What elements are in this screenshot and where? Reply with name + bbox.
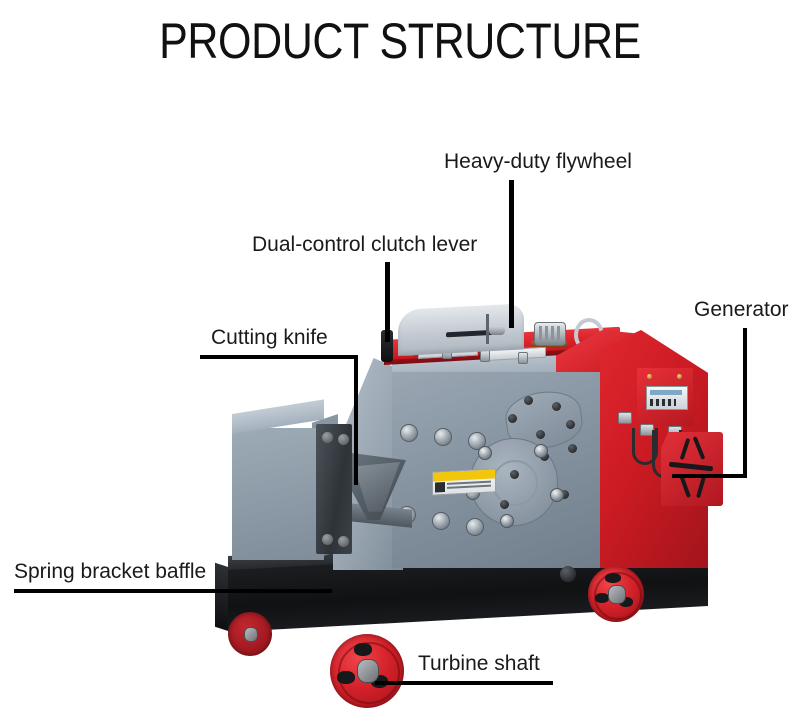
fan-cover-slot — [669, 462, 713, 472]
gearbox-bolt — [500, 500, 509, 509]
gearbox-bolt — [508, 414, 517, 423]
support-block-front — [232, 428, 324, 560]
leader-line-generator-horizontal — [672, 474, 747, 478]
callout-label-heavy-duty-flywheel: Heavy-duty flywheel — [444, 150, 632, 174]
leader-line-cutting-knife-horizontal — [200, 355, 358, 359]
wheel-spoke-hole — [354, 643, 372, 656]
rear-wheel — [588, 566, 644, 622]
gearbox-cap-bolt — [400, 424, 418, 442]
gearbox-bolt — [552, 402, 561, 411]
gearbox-cap-bolt — [466, 518, 484, 536]
leader-line-generator-vertical — [743, 328, 747, 478]
wheel-spoke-hole — [337, 671, 355, 684]
fan-cover-slot — [696, 476, 706, 498]
callout-label-spring-bracket-baffle: Spring bracket baffle — [14, 560, 206, 584]
wheel-spoke-hole — [595, 593, 609, 603]
knife-plate-bolt — [338, 536, 349, 547]
breaker-panel-label-strip — [650, 390, 682, 395]
flywheel-guard-knob — [489, 326, 505, 335]
wheel-hub — [357, 659, 380, 683]
cable-gland — [618, 412, 632, 424]
flywheel-guard — [398, 303, 524, 356]
generator-fan-cover — [661, 432, 723, 506]
leader-line-turbine-shaft — [375, 681, 553, 685]
control-box-screw — [647, 374, 652, 379]
leader-line-cutting-knife-vertical — [354, 355, 358, 485]
control-box-screw — [677, 374, 682, 379]
gearbox-bolt — [566, 420, 575, 429]
warning-sticker-text-lines — [447, 481, 491, 485]
leader-line-dual-control-clutch-lever — [385, 262, 390, 342]
flange-bolt — [534, 444, 548, 458]
knife-plate-bolt — [322, 534, 333, 545]
leader-line-heavy-duty-flywheel — [509, 180, 514, 328]
product-illustration — [0, 0, 800, 724]
breaker-switch-row[interactable] — [650, 399, 676, 406]
wheel-hub — [608, 585, 626, 604]
wheel-hub — [244, 627, 258, 642]
table-bolt — [518, 352, 528, 364]
gearbox-bolt — [524, 396, 533, 405]
flange-bolt — [500, 514, 514, 528]
wheel-spoke-hole — [605, 573, 621, 583]
knife-plate-bolt — [322, 432, 333, 443]
gearbox-flange-inner-ring — [492, 460, 538, 506]
gearbox-bolt — [510, 470, 519, 479]
leader-line-spring-bracket-baffle — [14, 589, 332, 593]
front-wheel — [330, 634, 404, 708]
flange-bolt — [478, 446, 492, 460]
callout-label-dual-control-clutch-lever: Dual-control clutch lever — [252, 233, 477, 257]
gearbox-bolt — [568, 444, 577, 453]
warning-sticker — [432, 468, 496, 495]
axle-stub — [560, 566, 576, 582]
callout-label-generator: Generator — [694, 298, 789, 322]
spring-cap — [534, 322, 566, 346]
gearbox-cap-bolt — [432, 512, 450, 530]
flange-bolt — [550, 488, 564, 502]
table-bolt — [480, 350, 490, 362]
knife-plate-bolt — [338, 434, 349, 445]
diagram-canvas: PRODUCT STRUCTURE — [0, 0, 800, 724]
breaker-panel[interactable] — [646, 386, 688, 410]
callout-label-cutting-knife: Cutting knife — [211, 326, 328, 350]
warning-sticker-yellow-band — [433, 469, 495, 481]
control-box[interactable] — [637, 368, 693, 426]
warning-pictogram-icon — [435, 482, 445, 493]
callout-label-turbine-shaft: Turbine shaft — [418, 652, 540, 676]
fan-cover-slot — [693, 436, 706, 460]
gearbox-cap-bolt — [434, 428, 452, 446]
fan-cover-slot — [680, 438, 691, 460]
left-rear-wheel — [228, 612, 272, 656]
gearbox-bolt — [536, 430, 545, 439]
